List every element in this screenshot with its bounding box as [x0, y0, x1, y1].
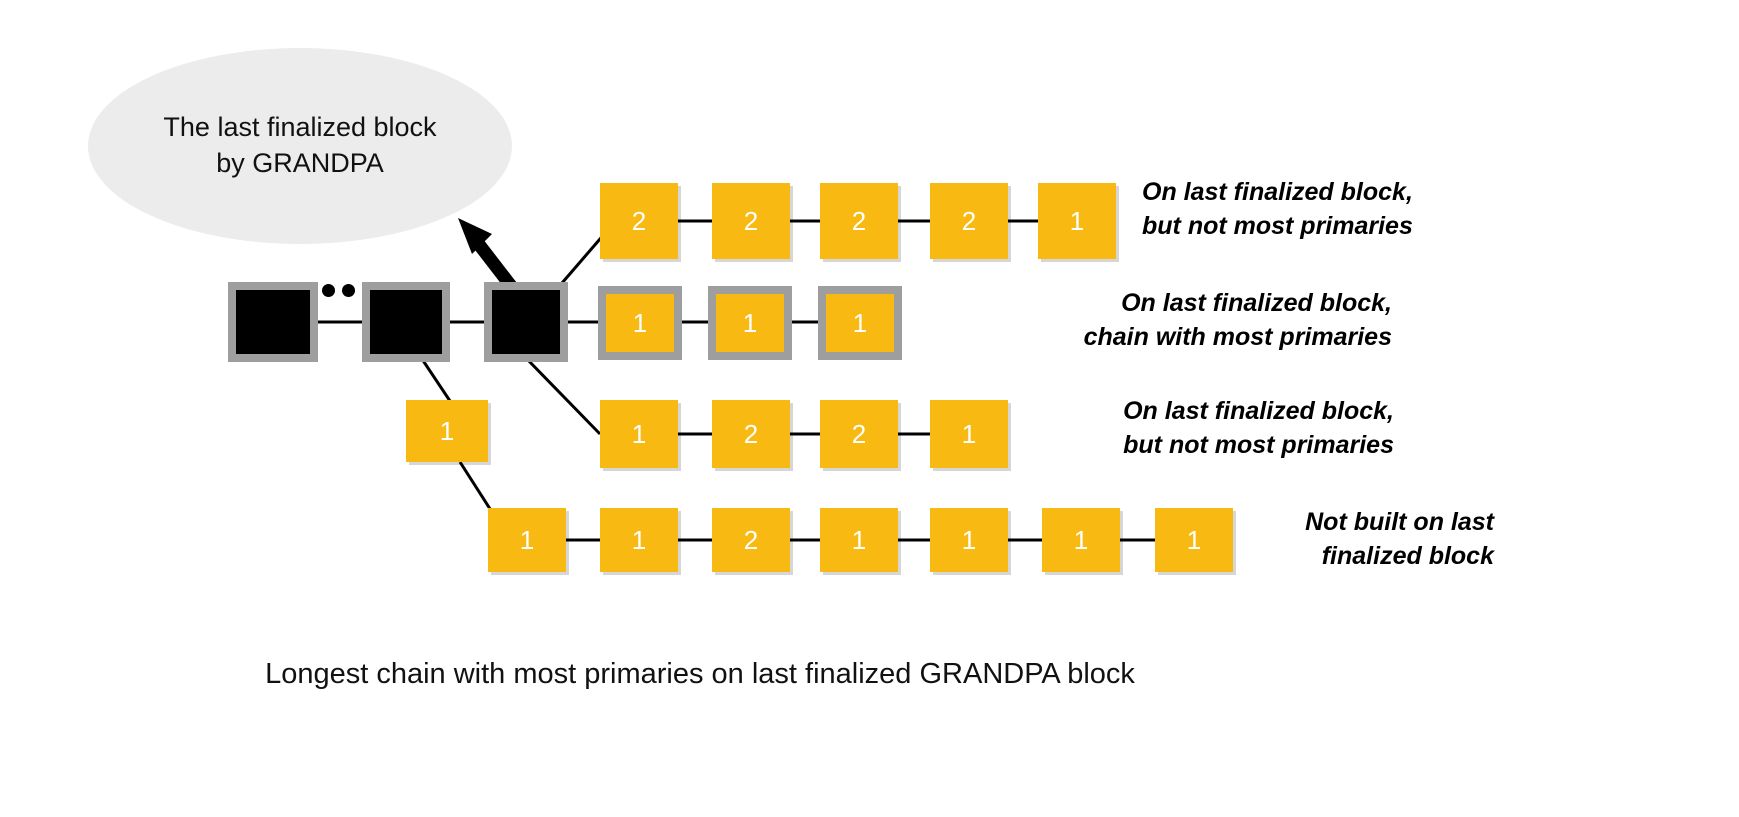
block-label: 1 [520, 525, 534, 556]
finalized-block-2[interactable] [362, 282, 450, 362]
branch-main-block-3[interactable]: 1 [818, 286, 902, 360]
branch-top-block-5[interactable]: 1 [1038, 183, 1116, 259]
branch-third-block-4[interactable]: 1 [930, 400, 1008, 468]
branch-third-block-3[interactable]: 2 [820, 400, 898, 468]
annotation-line-1: On last finalized block, [1020, 394, 1394, 428]
block-label: 2 [852, 206, 866, 237]
block-label: 2 [852, 419, 866, 450]
annotation-line-2: but not most primaries [1142, 209, 1413, 243]
branch-bottom-block-2[interactable]: 1 [600, 508, 678, 572]
branch-top-block-1[interactable]: 2 [600, 183, 678, 259]
block-label: 2 [962, 206, 976, 237]
annotation-line-1: Not built on last [1020, 505, 1494, 539]
block-label: 1 [632, 525, 646, 556]
block-label: 1 [440, 416, 454, 447]
branch-bottom-block-5[interactable]: 1 [930, 508, 1008, 572]
annotation-branch-main: On last finalized block, chain with most… [1018, 286, 1392, 354]
finalized-block-last[interactable] [484, 282, 568, 362]
branch-bottom-block-4[interactable]: 1 [820, 508, 898, 572]
finalized-block-1[interactable] [228, 282, 318, 362]
callout-line-1: The last finalized block [163, 110, 436, 146]
diagram-caption: Longest chain with most primaries on las… [0, 658, 1400, 691]
block-label: 1 [633, 308, 647, 339]
annotation-line-1: On last finalized block, [1018, 286, 1392, 320]
branch-top-block-3[interactable]: 2 [820, 183, 898, 259]
branch-main-block-2[interactable]: 1 [708, 286, 792, 360]
branch-top-block-4[interactable]: 2 [930, 183, 1008, 259]
block-label: 1 [853, 308, 867, 339]
block-label: 2 [744, 206, 758, 237]
block-label: 2 [744, 525, 758, 556]
block-label: 1 [632, 419, 646, 450]
annotation-branch-third: On last finalized block, but not most pr… [1020, 394, 1394, 462]
annotation-line-1: On last finalized block, [1142, 175, 1413, 209]
branch-bottom-block-1[interactable]: 1 [488, 508, 566, 572]
annotation-line-2: chain with most primaries [1018, 320, 1392, 354]
branch-main-block-1[interactable]: 1 [598, 286, 682, 360]
diagram-canvas: The last finalized block by GRANDPA [0, 0, 1739, 817]
block-label: 2 [744, 419, 758, 450]
branch-third-block-2[interactable]: 2 [712, 400, 790, 468]
callout-line-2: by GRANDPA [163, 146, 436, 182]
block-label: 1 [1070, 206, 1084, 237]
annotation-branch-bottom: Not built on last finalized block [1020, 505, 1494, 573]
annotation-branch-top: On last finalized block, but not most pr… [1142, 175, 1413, 243]
block-label: 1 [962, 419, 976, 450]
branch-top-block-2[interactable]: 2 [712, 183, 790, 259]
annotation-line-2: but not most primaries [1020, 428, 1394, 462]
block-label: 2 [632, 206, 646, 237]
block-label: 1 [852, 525, 866, 556]
branch-bottom-block-3[interactable]: 2 [712, 508, 790, 572]
branch-third-block-1[interactable]: 1 [600, 400, 678, 468]
block-label: 1 [743, 308, 757, 339]
orphan-block[interactable]: 1 [406, 400, 488, 462]
annotation-line-2: finalized block [1020, 539, 1494, 573]
block-label: 1 [962, 525, 976, 556]
